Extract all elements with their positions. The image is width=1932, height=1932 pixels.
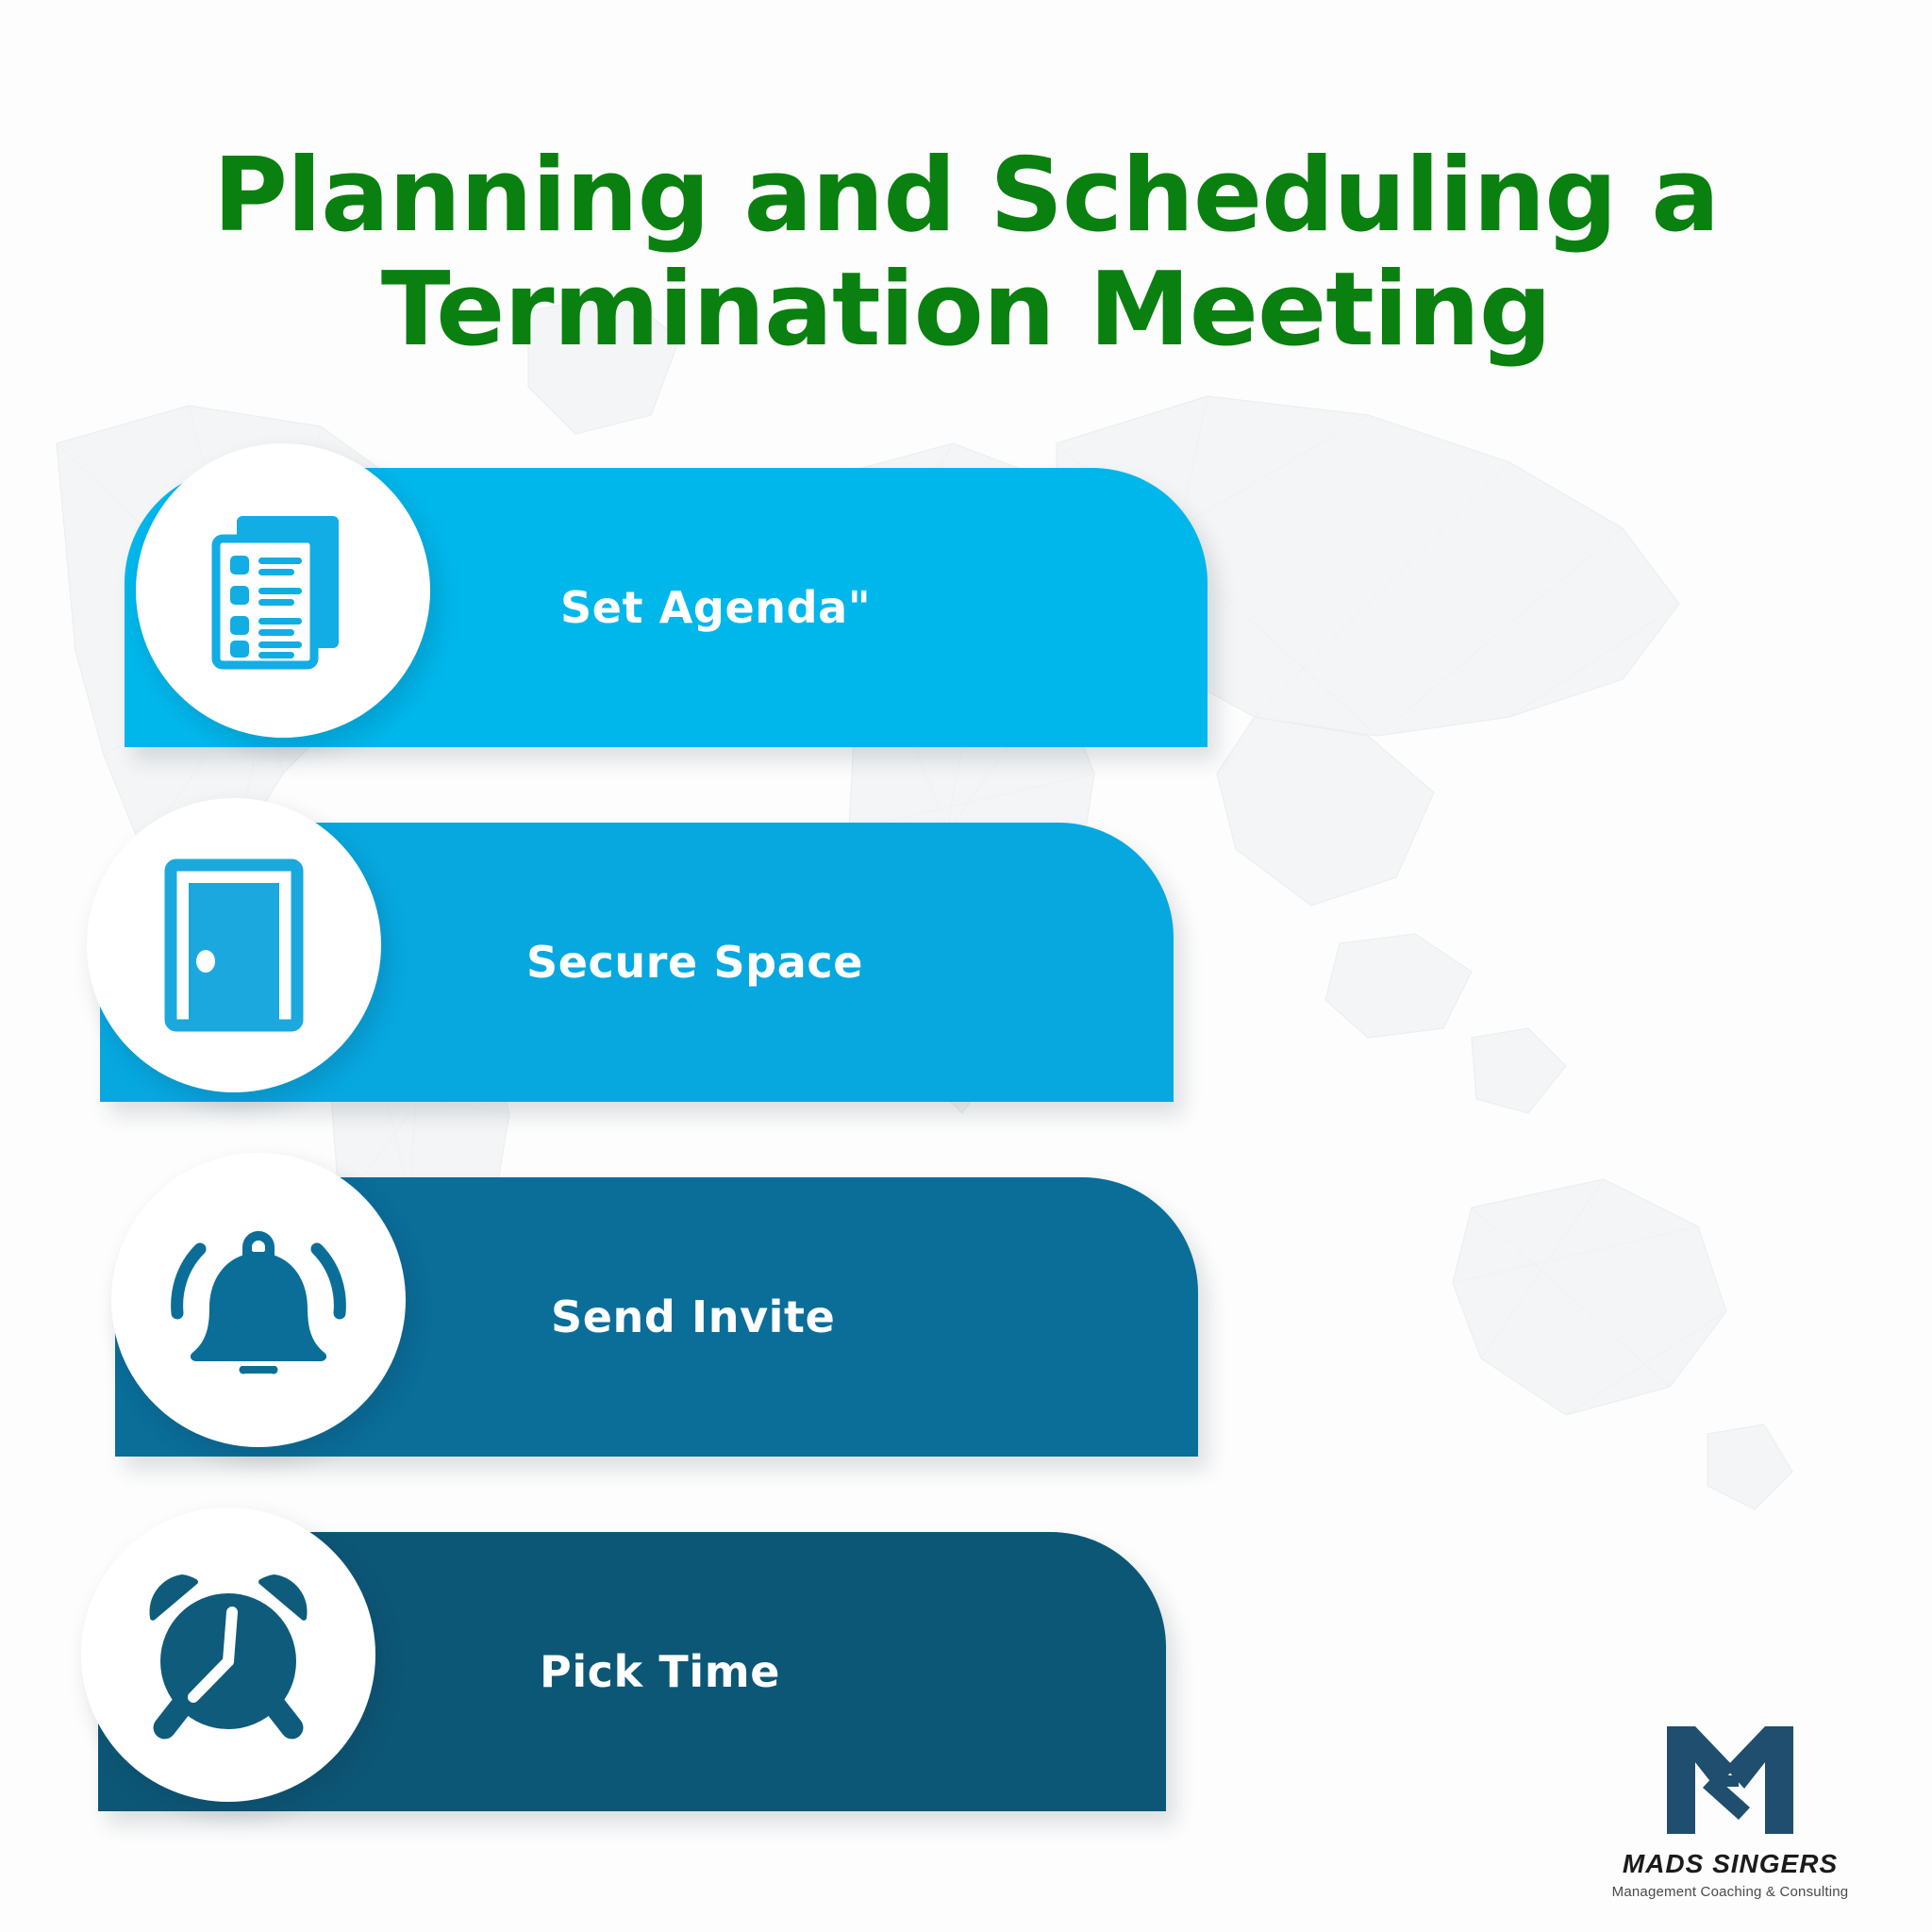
title-line-1: Planning and Scheduling a (0, 140, 1932, 254)
step-label-4: Pick Time (540, 1646, 780, 1697)
step-row-secure-space[interactable]: Secure Space (100, 823, 1183, 1102)
step-icon-circle-1 (136, 443, 430, 738)
step-row-pick-time[interactable]: Pick Time (98, 1532, 1181, 1811)
step-icon-circle-4 (81, 1507, 375, 1802)
m-monogram-icon (1659, 1721, 1801, 1840)
bell-icon (170, 1217, 347, 1383)
step-icon-circle-3 (111, 1153, 406, 1447)
step-row-send-invite[interactable]: Send Invite (115, 1177, 1198, 1457)
brand-name: MADS SINGERS (1589, 1849, 1872, 1879)
step-label-2: Secure Space (526, 937, 863, 988)
step-row-set-agenda[interactable]: Set Agenda" (125, 468, 1207, 747)
step-label-1: Set Agenda" (560, 582, 871, 633)
step-icon-circle-2 (87, 798, 381, 1092)
step-label-3: Send Invite (551, 1291, 835, 1342)
brand-tagline: Management Coaching & Consulting (1589, 1884, 1872, 1900)
door-icon (163, 858, 305, 1033)
title-line-2: Termination Meeting (0, 254, 1932, 368)
alarm-clock-icon (139, 1567, 318, 1742)
page-title: Planning and Scheduling a Termination Me… (0, 140, 1932, 368)
document-checklist-icon (207, 507, 359, 675)
brand-logo: MADS SINGERS Management Coaching & Consu… (1589, 1721, 1872, 1900)
